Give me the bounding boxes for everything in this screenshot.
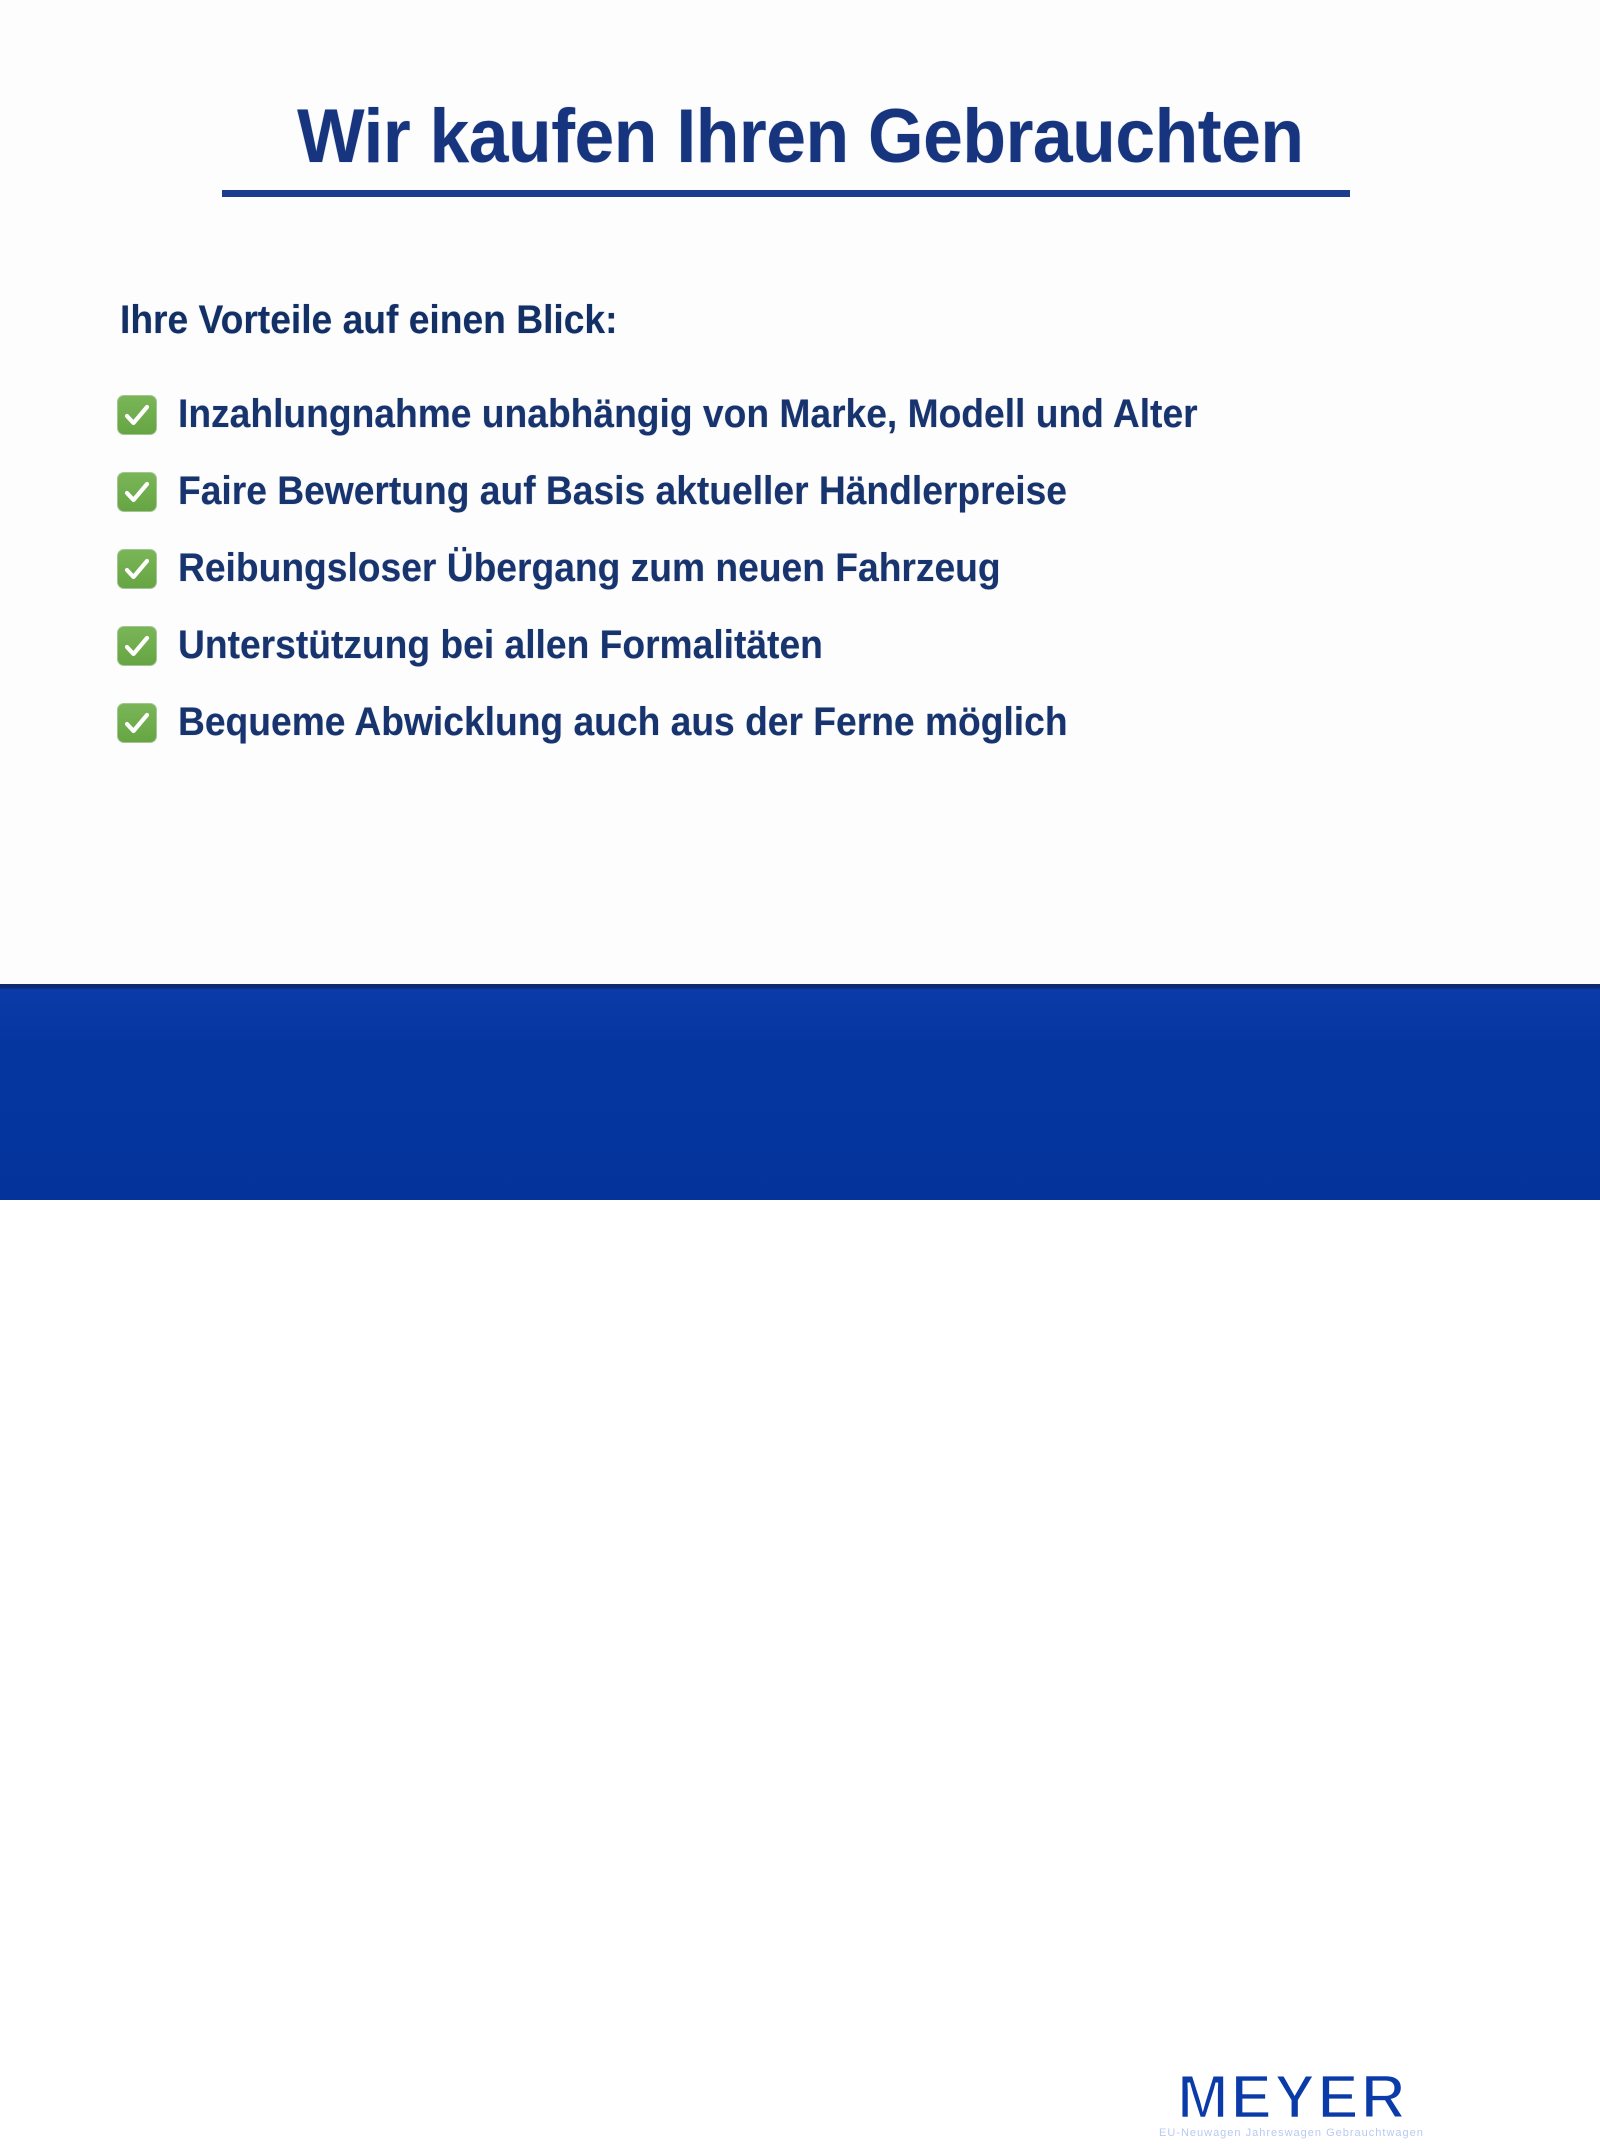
logo-name-text: MEYER <box>1177 2063 1407 2132</box>
list-item: Reibungsloser Übergang zum neuen Fahrzeu… <box>118 530 1538 607</box>
check-square-icon <box>118 473 156 511</box>
benefits-heading: Ihre Vorteile auf einen Blick: <box>120 298 618 343</box>
logo-script-text: Autohaus <box>1173 1990 1382 2065</box>
footer-tagline: Clever sparen. Besser fahren. <box>132 2016 821 2078</box>
list-item: Bequeme Abwicklung auch aus der Ferne mö… <box>118 684 1538 761</box>
footer-bar: Clever sparen. Besser fahren. Autohaus M… <box>0 984 1600 1200</box>
benefits-list: Inzahlungnahme unabhängig von Marke, Mod… <box>118 376 1538 761</box>
list-item-label: Unterstützung bei allen Formalitäten <box>178 623 823 668</box>
check-square-icon <box>118 550 156 588</box>
list-item-label: Reibungsloser Übergang zum neuen Fahrzeu… <box>178 546 1001 591</box>
page-title: Wir kaufen Ihren Gebrauchten <box>297 96 1303 188</box>
list-item-label: Faire Bewertung auf Basis aktueller Händ… <box>178 469 1067 514</box>
list-item-label: Inzahlungnahme unabhängig von Marke, Mod… <box>178 392 1198 437</box>
advertisement-page: Wir kaufen Ihren Gebrauchten Ihre Vortei… <box>0 0 1600 1200</box>
page-title-container: Wir kaufen Ihren Gebrauchten <box>0 96 1600 188</box>
list-item-label: Bequeme Abwicklung auch aus der Ferne mö… <box>178 700 1068 745</box>
check-square-icon <box>118 627 156 665</box>
list-item: Faire Bewertung auf Basis aktueller Händ… <box>118 453 1538 530</box>
autohaus-meyer-logo: Autohaus MEYER EU-Neuwagen Jahreswagen G… <box>1115 1990 1475 2150</box>
logo-subline-text: EU-Neuwagen Jahreswagen Gebrauchtwagen <box>1159 2127 1424 2139</box>
list-item: Inzahlungnahme unabhängig von Marke, Mod… <box>118 376 1538 453</box>
check-square-icon <box>118 704 156 742</box>
check-square-icon <box>118 396 156 434</box>
list-item: Unterstützung bei allen Formalitäten <box>118 607 1538 684</box>
title-underline-rule <box>222 190 1350 197</box>
